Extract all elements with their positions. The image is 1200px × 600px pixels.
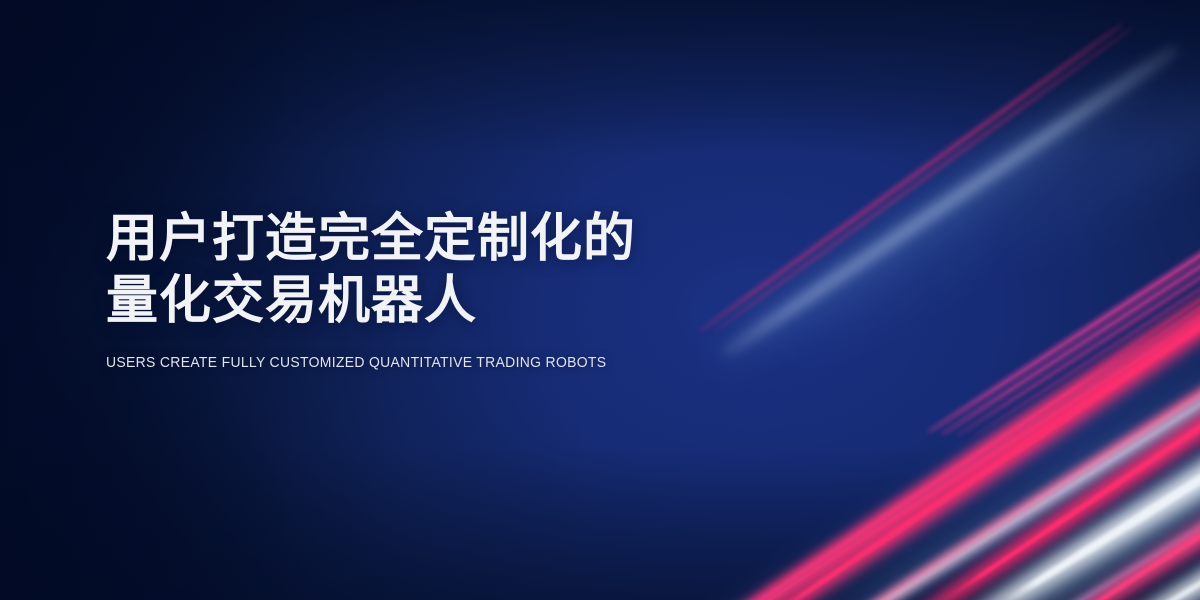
- streak-cyan-halo-b: [1064, 254, 1200, 600]
- streak-pink-mid-b: [741, 211, 1200, 600]
- streak-blue-faint-top: [990, 18, 1200, 281]
- streak-pink-bottom-edge: [1029, 462, 1200, 600]
- streak-white-core-mid: [789, 194, 1200, 600]
- streak-blue-faint-top2: [1073, 0, 1200, 214]
- hero-banner: 用户打造完全定制化的 量化交易机器人 USERS CREATE FULLY CU…: [0, 0, 1200, 600]
- streak-purple-bundle-2: [943, 127, 1200, 434]
- streak-purple-bundle-3: [957, 129, 1200, 436]
- streak-white-low-edge: [1108, 431, 1200, 600]
- streak-blue-wide-upper: [758, 29, 1200, 371]
- streak-pink-right-b: [1008, 220, 1200, 600]
- streak-purple-bundle-4: [971, 131, 1200, 438]
- hero-title-line-2: 量化交易机器人: [106, 270, 806, 332]
- streak-blue-thin-a: [959, 229, 1200, 600]
- streak-cyan-halo-a: [923, 184, 1200, 600]
- streak-pink-right-a: [878, 149, 1200, 600]
- streak-purple-bundle-1: [929, 125, 1200, 432]
- streak-white-bright-a: [932, 185, 1200, 600]
- hero-title-line-1: 用户打造完全定制化的: [106, 208, 806, 270]
- hero-copy-block: 用户打造完全定制化的 量化交易机器人 USERS CREATE FULLY CU…: [106, 208, 806, 371]
- streak-cyan-soft-mid: [796, 188, 1200, 600]
- hero-subtitle: USERS CREATE FULLY CUSTOMIZED QUANTITATI…: [106, 354, 757, 371]
- streak-cyan-low-edge-halo: [1098, 430, 1200, 600]
- streak-white-bright-b: [1073, 254, 1200, 600]
- streak-cyan-low-sweep: [816, 361, 1200, 600]
